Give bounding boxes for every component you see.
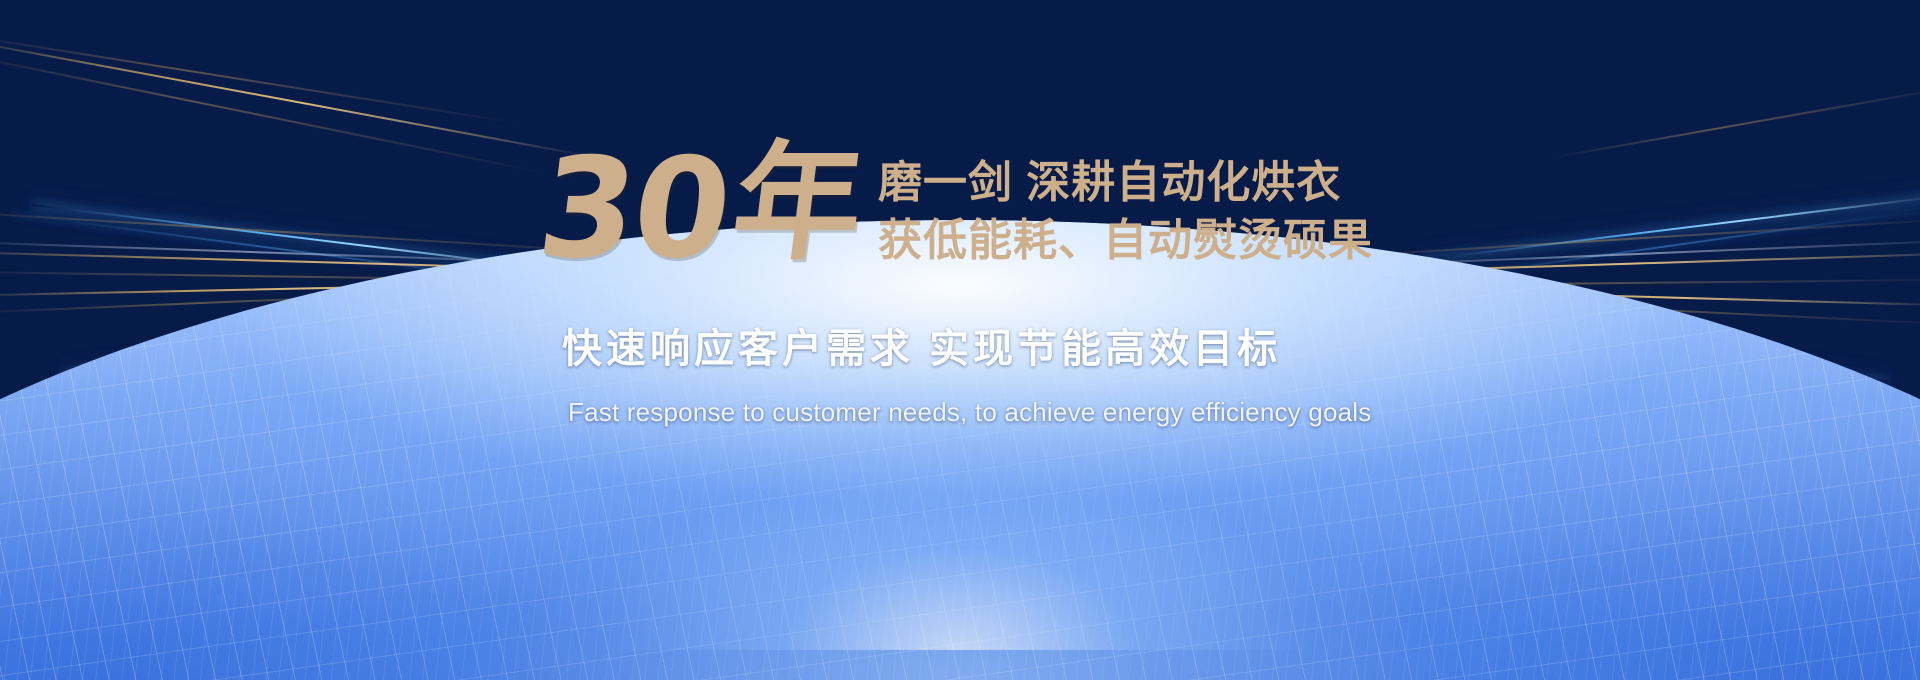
- gold-tagline-2: 获低能耗、自动熨烫硕果: [878, 212, 1373, 270]
- slogan-chinese: 快速响应客户需求 实现节能高效目标: [562, 316, 1281, 374]
- headline-row: 30 年 磨一剑 深耕自动化烘衣 获低能耗、自动熨烫硕果: [540, 140, 1373, 278]
- anniversary-unit: 年: [726, 140, 870, 268]
- promo-banner: 30 年 磨一剑 深耕自动化烘衣 获低能耗、自动熨烫硕果 快速响应客户需求 实现…: [0, 0, 1920, 680]
- gold-tagline-1: 磨一剑 深耕自动化烘衣: [878, 154, 1373, 212]
- anniversary-number: 30: [532, 140, 739, 278]
- slogan-english: Fast response to customer needs, to achi…: [568, 397, 1371, 428]
- gold-taglines: 磨一剑 深耕自动化烘衣 获低能耗、自动熨烫硕果: [878, 140, 1373, 270]
- banner-content: 30 年 磨一剑 深耕自动化烘衣 获低能耗、自动熨烫硕果 快速响应客户需求 实现…: [0, 0, 1920, 680]
